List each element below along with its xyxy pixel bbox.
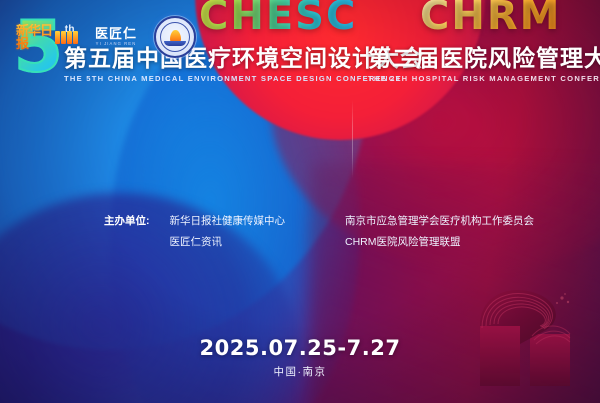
- chesc-acronym: CHESC: [199, 0, 357, 36]
- organizers-section: 主办单位: 新华日报社健康传媒中心 医匠仁资讯 南京市应急管理学会医疗机构工作委…: [104, 211, 534, 253]
- organizers-column-2: 南京市应急管理学会医疗机构工作委员会 CHRM医院风险管理联盟: [345, 211, 534, 253]
- yijiangren-logo-text-cn: 医匠仁: [95, 27, 137, 40]
- organizer-item: 新华日报社健康传媒中心: [170, 211, 286, 232]
- right-conference-title-cn: 第二届医院风险管理大会: [368, 46, 600, 70]
- yijiangren-logo-text-en: YI JIANG REN: [95, 42, 137, 46]
- chrm-acronym: CHRM: [420, 0, 561, 36]
- organizer-item: CHRM医院风险管理联盟: [345, 232, 534, 253]
- emblem-wave-icon: [164, 41, 186, 46]
- event-location: 中国·南京: [0, 367, 600, 378]
- xinhua-daily-logo-text: 新华日报: [16, 24, 53, 50]
- title-divider: [352, 100, 353, 178]
- sponsor-logo-bar: 新华日报 医匠仁 YI JIANG REN: [16, 16, 196, 58]
- ribbon-numeral-two-decoration: [458, 268, 588, 403]
- right-conference-title-en: THE 2TH HOSPITAL RISK MANAGEMENT CONFERE…: [368, 74, 600, 83]
- organizer-item: 医匠仁资讯: [170, 232, 286, 253]
- organizers-label: 主办单位:: [104, 211, 150, 253]
- organizer-item: 南京市应急管理学会医疗机构工作委员会: [345, 211, 534, 232]
- event-date: 2025.07.25-7.27: [0, 338, 600, 359]
- conference-poster: 新华日报 医匠仁 YI JIANG REN 5 th CHESC 第五届中国医疗…: [0, 0, 600, 403]
- nanjing-emergency-association-emblem: [154, 16, 196, 58]
- emblem-inner-ring: [160, 22, 190, 52]
- event-date-block: 2025.07.25-7.27 中国·南京: [0, 338, 600, 378]
- xinhua-daily-logo: 新华日报: [16, 27, 78, 47]
- xinhua-daily-logo-blocks: [55, 31, 78, 44]
- right-conference-titles: CHRM 第二届医院风险管理大会 THE 2TH HOSPITAL RISK M…: [368, 46, 600, 83]
- organizers-column-1: 新华日报社健康传媒中心 医匠仁资讯: [170, 211, 286, 253]
- yijiangren-logo: 医匠仁 YI JIANG REN: [95, 27, 137, 46]
